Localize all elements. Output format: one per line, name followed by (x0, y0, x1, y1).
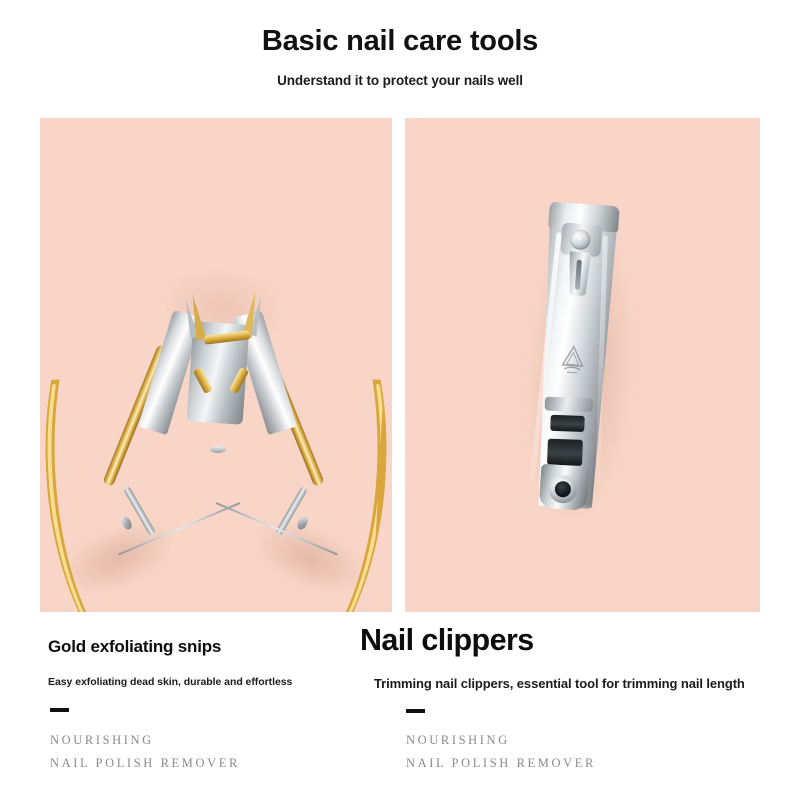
caption-divider (406, 709, 425, 713)
clipper-slot (547, 439, 583, 466)
page-header: Basic nail care tools Understand it to p… (0, 0, 800, 88)
nipper-spring-knob (210, 446, 226, 453)
caption-brand-block: NOURISHING NAIL POLISH REMOVER (406, 729, 780, 775)
gold-cuticle-nippers-image (40, 118, 392, 612)
product-panel-gold-exfoliating-snips[interactable] (40, 118, 392, 612)
product-panel-nail-clippers[interactable] (405, 118, 760, 612)
caption-divider (50, 708, 69, 712)
caption-nail-clippers: Nail clippers Trimming nail clippers, es… (360, 612, 780, 775)
clipper-mid-band (545, 397, 593, 413)
caption-subtitle: Easy exfoliating dead skin, durable and … (48, 657, 378, 689)
product-panels (40, 118, 760, 612)
caption-brand-line-1: NOURISHING (406, 729, 780, 752)
page-subtitle: Understand it to protect your nails well (0, 58, 800, 88)
product-captions: Gold exfoliating snips Easy exfoliating … (0, 612, 800, 800)
clipper-brand-emblem-icon (559, 343, 587, 377)
caption-brand-line-2: NAIL POLISH REMOVER (50, 752, 378, 775)
caption-title: Nail clippers (360, 612, 780, 658)
caption-brand-line-2: NAIL POLISH REMOVER (406, 752, 780, 775)
caption-subtitle: Trimming nail clippers, essential tool f… (360, 658, 780, 692)
caption-title: Gold exfoliating snips (48, 612, 378, 657)
caption-gold-exfoliating-snips: Gold exfoliating snips Easy exfoliating … (48, 612, 378, 775)
page-title: Basic nail care tools (0, 0, 800, 58)
caption-brand-block: NOURISHING NAIL POLISH REMOVER (50, 729, 378, 775)
clipper-slot (550, 415, 585, 432)
caption-brand-line-1: NOURISHING (50, 729, 378, 752)
